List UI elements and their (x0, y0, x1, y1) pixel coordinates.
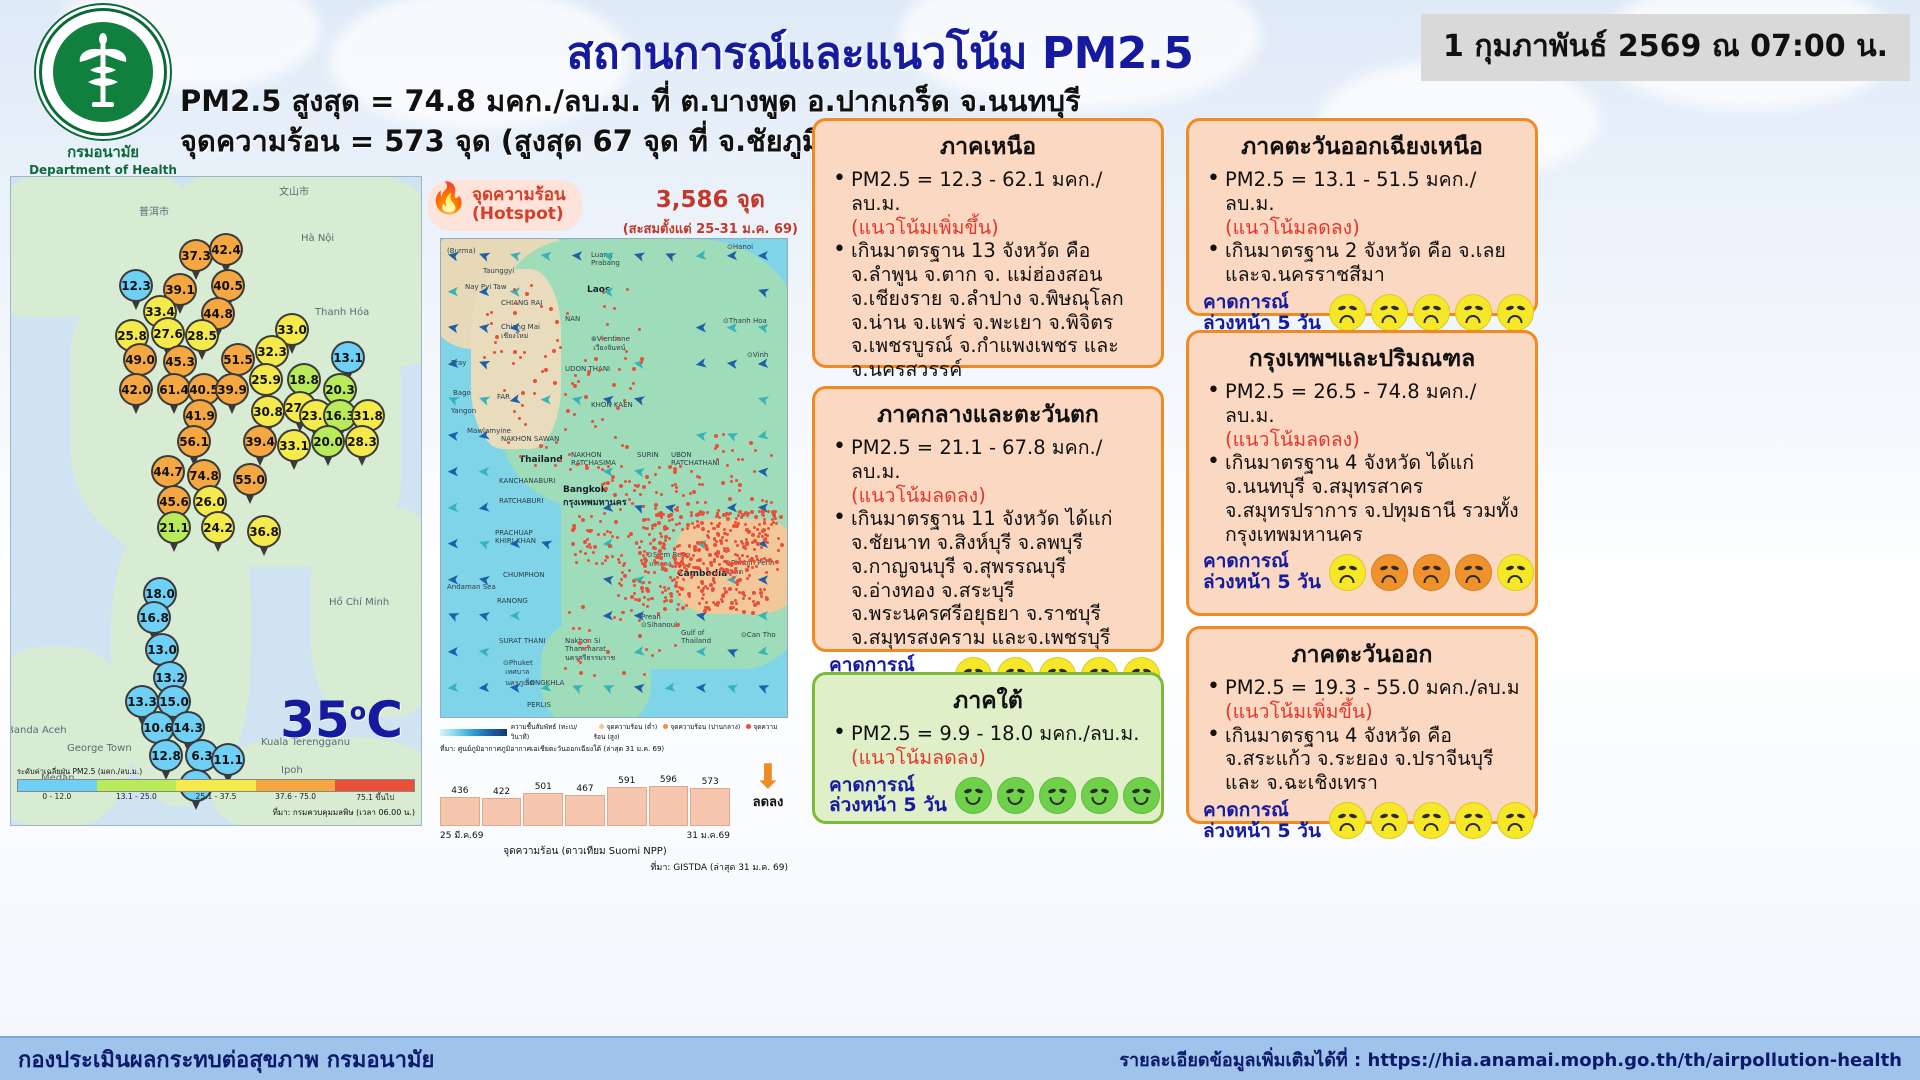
pm25-range-item: PM2.5 = 9.9 - 18.0 มคก./ลบ.ม.(แนวโน้มลดล… (829, 722, 1147, 770)
mouth (1340, 823, 1355, 831)
hotspot-dot (678, 522, 681, 525)
bar-column: 467 (565, 784, 605, 826)
region-card-northeast[interactable]: ภาคตะวันออกเฉียงเหนือPM2.5 = 13.1 - 51.5… (1186, 118, 1538, 316)
hotspot-dot (662, 513, 665, 516)
hotspot-dot (701, 582, 704, 585)
hotspot-dot (493, 351, 496, 354)
station-value: 37.3 (179, 239, 213, 272)
wind-arrow-icon: ➤ (447, 535, 460, 553)
forecast-face-icon (1455, 802, 1492, 839)
hotspot-dot (707, 536, 710, 539)
footer-link[interactable]: รายละเอียดข้อมูลเพิ่มเติมได้ที่ : https:… (1119, 1045, 1902, 1074)
degree-symbol: o (350, 697, 367, 725)
bar (523, 793, 563, 826)
hotspot-panel: 🔥 จุดความร้อน (Hotspot) 3,586 จุด (สะสมต… (428, 176, 800, 826)
wind-arrow-icon: ➤ (477, 679, 491, 698)
wind-arrow-icon: ➤ (663, 678, 678, 698)
station-reading-pin[interactable]: 36.8 (247, 515, 281, 557)
bar (565, 795, 605, 826)
hotspot-legend-item: จุดความร้อน (ปานกลาง) (663, 723, 740, 731)
hotspot-dot (552, 349, 556, 353)
hotspot-dot (586, 639, 589, 642)
axis-start-label: 25 มี.ค.69 (440, 828, 483, 842)
wind-speed-gradient (440, 729, 507, 736)
hotspot-dot (640, 540, 643, 543)
hotspot-dot (645, 648, 648, 651)
hotspot-dot (602, 291, 605, 294)
pm25-range-item: PM2.5 = 21.1 - 67.8 มคก./ลบ.ม.(แนวโน้มลด… (829, 436, 1147, 507)
station-reading-pin[interactable]: 39.4 (243, 425, 277, 467)
hotspot-dot (702, 593, 705, 596)
hotspot-legend-items: จุดความร้อน (ต่ำ) จุดความร้อน (ปานกลาง) … (593, 722, 788, 742)
map-label: RATCHABURI (499, 497, 544, 505)
hotspot-dot (766, 534, 769, 537)
legend-bin-labels: 0 - 12.013.1 - 25.025.1 - 37.537.6 - 75.… (17, 792, 415, 804)
region-title: กรุงเทพฯและปริมณฑล (1203, 341, 1521, 377)
wind-arrow-icon: ➤ (478, 463, 491, 481)
hotspot-dot (730, 564, 733, 567)
hotspot-dot (633, 489, 636, 492)
map-city-label: Banda Aceh (10, 725, 67, 736)
wind-arrow-icon: ➤ (477, 283, 491, 302)
trend-label: (แนวโน้มลดลง) (1225, 216, 1360, 239)
eye (1474, 565, 1483, 571)
temperature-unit: C (366, 691, 403, 749)
hotspot-dot (607, 465, 610, 468)
legend-title: ระดับค่าเฉลี่ยฝุ่น PM2.5 (มคก./ลบ.ม.) (17, 766, 415, 778)
station-reading-pin[interactable]: 20.0 (311, 425, 345, 467)
hotspot-satellite-map[interactable]: (Burma) Taunggyi Nay Pyi Taw LuangPraban… (440, 238, 788, 718)
station-value: 39.9 (215, 373, 249, 406)
hotspot-dot (674, 584, 678, 588)
hotspot-dot (611, 535, 614, 538)
hotspot-dot (736, 579, 740, 583)
hotspot-dot (703, 609, 707, 613)
forecast-label: คาดการณ์ล่วงหน้า 5 วัน (829, 775, 947, 817)
hotspot-dot (742, 545, 746, 549)
station-value: 39.4 (243, 425, 277, 458)
region-title: ภาคเหนือ (829, 129, 1147, 165)
forecast-label: คาดการณ์ล่วงหน้า 5 วัน (1203, 800, 1321, 842)
forecast-face-icon (1123, 777, 1160, 814)
wind-arrow-icon: ➤ (726, 247, 739, 265)
region-title: ภาคใต้ (829, 683, 1147, 719)
hotspot-dot (727, 549, 730, 552)
hotspot-dot (553, 381, 557, 385)
station-value: 44.7 (151, 455, 185, 488)
trend-down-label: ลดลง (740, 791, 796, 812)
hotspot-label-line2: (Hotspot) (472, 205, 566, 224)
bar-column: 501 (523, 782, 563, 826)
hotspot-dot (634, 598, 637, 601)
hotspot-summary: จุดความร้อน = 573 จุด (สูงสุด 67 จุด ที่… (180, 118, 834, 164)
station-value: 42.4 (209, 233, 243, 266)
legend-bin-label: 75.1 ขึ้นไป (335, 792, 415, 804)
mouth (1424, 315, 1439, 323)
eye (1421, 305, 1430, 311)
trend-down-indicator: ⬇ ลดลง (740, 764, 796, 812)
mouth (1508, 823, 1523, 831)
hotspot-dot (653, 538, 656, 541)
region-card-north[interactable]: ภาคเหนือPM2.5 = 12.3 - 62.1 มคก./ลบ.ม.(แ… (812, 118, 1164, 368)
map-city-label: George Town (67, 743, 132, 754)
hotspot-dot (515, 302, 518, 305)
station-reading-pin[interactable]: 21.1 (157, 511, 191, 553)
hotspot-dot (656, 555, 660, 559)
hotspot-dot (587, 370, 591, 374)
station-value: 55.0 (233, 463, 267, 496)
forecast-face-icon (1497, 554, 1534, 591)
eye (963, 788, 972, 794)
hotspot-dot (723, 528, 726, 531)
hotspot-dot (603, 512, 606, 515)
hotspot-dot (647, 518, 650, 521)
hotspot-dot (751, 566, 754, 569)
hotspot-dot (676, 590, 679, 593)
wind-arrow-icon: ➤ (757, 607, 770, 625)
wind-arrow-icon: ➤ (633, 607, 646, 625)
hotspot-dot (682, 578, 685, 581)
hotspot-dot (714, 603, 717, 606)
forecast-face-icon (955, 777, 992, 814)
trend-label: (แนวโน้มเพิ่มขึ้น) (851, 216, 999, 239)
hotspot-dot (738, 557, 741, 560)
hotspot-dot (756, 542, 760, 546)
hotspot-dot (575, 561, 578, 564)
map-label: ⊛Vientiane เวียงจันทน์ (591, 335, 630, 354)
hotspot-dot (643, 596, 646, 599)
hotspot-dot (601, 468, 604, 471)
pm25-range-item: PM2.5 = 26.5 - 74.8 มคก./ลบ.ม.(แนวโน้มลด… (1203, 380, 1521, 451)
hotspot-dot (674, 561, 678, 565)
legend-swatch (335, 780, 414, 791)
hotspot-dot (629, 532, 633, 536)
hotspot-dot (574, 374, 577, 377)
wind-arrow-icon: ➤ (756, 462, 770, 481)
wind-arrow-icon: ➤ (724, 678, 741, 699)
legend-swatch (256, 780, 335, 791)
legend-color-bar (17, 779, 415, 792)
hotspot-dot (722, 433, 725, 436)
hotspot-dot (722, 450, 725, 453)
map-label: RANONG (497, 597, 528, 605)
hotspot-dot (503, 389, 506, 392)
hotspot-dot (690, 514, 693, 517)
hotspot-dot (483, 356, 486, 359)
hotspot-dot (770, 501, 773, 504)
wind-arrow-icon: ➤ (444, 605, 463, 627)
hotspot-dot (679, 515, 683, 519)
wind-arrow-icon: ➤ (694, 246, 709, 265)
hotspot-dot (730, 569, 733, 572)
eye (1421, 813, 1430, 819)
station-reading-pin[interactable]: 28.3 (345, 425, 379, 467)
station-reading-pin[interactable]: 24.2 (201, 511, 235, 553)
hotspot-dot (654, 473, 657, 476)
wind-arrow-icon: ➤ (757, 571, 771, 590)
station-value: 42.0 (119, 373, 153, 406)
hotspot-dot (638, 619, 641, 622)
region-details-list: PM2.5 = 21.1 - 67.8 มคก./ลบ.ม.(แนวโน้มลด… (829, 436, 1147, 650)
mouth (1382, 575, 1397, 583)
hotspot-legend-item: จุดความร้อน (ต่ำ) (599, 723, 657, 731)
wind-arrow-icon: ➤ (447, 571, 460, 589)
wind-arrow-icon: ➤ (475, 533, 493, 554)
region-card-east[interactable]: ภาคตะวันออกPM2.5 = 19.3 - 55.0 มคก./ลบ.ม… (1186, 626, 1538, 824)
mouth (1050, 797, 1065, 805)
bar-column: 596 (649, 775, 689, 826)
wind-arrow-icon: ➤ (476, 606, 493, 627)
mouth (1134, 797, 1149, 805)
eye (1337, 305, 1346, 311)
hotspot-dot (672, 555, 676, 559)
hotspot-dot (616, 406, 620, 410)
bar-value-label: 422 (493, 787, 510, 797)
hotspot-chart-title: จุดความร้อน (ดาวเทียม Suomi NPP) (440, 844, 730, 859)
eye (1047, 788, 1056, 794)
wind-arrow-icon: ➤ (508, 535, 522, 554)
map-label: ⊙Can Tho (741, 631, 776, 639)
hotspot-count-value: 3,586 จุด (623, 182, 798, 218)
wind-arrow-icon: ➤ (446, 354, 461, 374)
mouth (1382, 823, 1397, 831)
forecast-face-icon (1371, 802, 1408, 839)
eye (1432, 565, 1441, 571)
hotspot-dot (660, 535, 663, 538)
hotspot-dot (696, 501, 699, 504)
region-card-bangkok[interactable]: กรุงเทพฯและปริมณฑลPM2.5 = 26.5 - 74.8 มค… (1186, 330, 1538, 616)
hotspot-dot (601, 418, 604, 421)
hotspot-dot (588, 629, 591, 632)
hotspot-dot (604, 487, 608, 491)
hotspot-dot (664, 589, 667, 592)
hotspot-dot (628, 569, 631, 572)
wind-arrow-icon: ➤ (509, 607, 522, 625)
hotspot-dot (613, 493, 617, 497)
hotspot-dot (594, 357, 598, 361)
exceed-standard-item: เกินมาตรฐาน 4 จังหวัด ได้แก่ จ.นนทบุรี จ… (1203, 451, 1521, 546)
station-value: 49.0 (123, 343, 157, 376)
hotspot-dot (713, 581, 716, 584)
hotspot-dot (725, 512, 728, 515)
station-reading-pin[interactable]: 42.0 (119, 373, 153, 415)
forecast-faces (1329, 294, 1534, 331)
hotspot-dot (524, 423, 527, 426)
forecast-faces (955, 777, 1160, 814)
hotspot-dot (584, 552, 587, 555)
legend-bin-label: 25.1 - 37.5 (176, 792, 256, 804)
hotspot-dot (721, 481, 725, 485)
exceed-standard-item: เกินมาตรฐาน 11 จังหวัด ได้แก่ จ.ชัยนาท จ… (829, 507, 1147, 650)
hotspot-dot (750, 497, 754, 501)
temperature-value: 35 (280, 691, 350, 749)
hotspot-dot (640, 361, 643, 364)
hotspot-dot (642, 485, 646, 489)
logo-thai-label: กรมอนามัย (28, 140, 178, 164)
hotspot-dot (654, 547, 657, 550)
satellite-map-legend: ความชื้นสัมพัทธ์ (ทะเบ/วินาที) จุดความร้… (440, 722, 788, 755)
hotspot-dot (770, 523, 773, 526)
hotspot-dot (692, 554, 695, 557)
hotspot-dot (625, 445, 629, 449)
map-landmass (541, 619, 651, 718)
hotspot-dot (574, 553, 577, 556)
legend-bin-label: 37.6 - 75.0 (256, 792, 336, 804)
hotspot-dot (513, 311, 517, 315)
hotspot-dot (673, 548, 676, 551)
forecast-row: คาดการณ์ล่วงหน้า 5 วัน (1203, 800, 1521, 842)
eye (1016, 788, 1025, 794)
hotspot-dot (581, 605, 585, 609)
station-value: 56.1 (177, 425, 211, 458)
hotspot-dot (753, 539, 757, 543)
forecast-face-icon (1497, 802, 1534, 839)
region-details-list: PM2.5 = 26.5 - 74.8 มคก./ลบ.ม.(แนวโน้มลด… (1203, 380, 1521, 546)
eye (1379, 305, 1388, 311)
hotspot-dot (750, 557, 754, 561)
hotspot-dot (733, 570, 737, 574)
forecast-face-icon (1329, 802, 1366, 839)
hotspot-dot (625, 493, 628, 496)
map-label: PERLIS (527, 701, 551, 709)
forecast-faces (1329, 554, 1534, 591)
eye (1390, 813, 1399, 819)
map-label: SURAT THANI (499, 637, 546, 645)
hotspot-dot (626, 288, 629, 291)
hotspot-dot (676, 608, 679, 611)
forecast-face-icon (1413, 294, 1450, 331)
hotspot-dot (669, 564, 672, 567)
hotspot-dot (749, 441, 753, 445)
hotspot-dot (678, 586, 681, 589)
footer-organization: กองประเมินผลกระทบต่อสุขภาพ กรมอนามัย (18, 1042, 434, 1077)
forecast-row: คาดการณ์ล่วงหน้า 5 วัน (1203, 551, 1521, 593)
hotspot-dot (678, 570, 682, 574)
wind-arrow-icon: ➤ (508, 283, 522, 302)
hotspot-dot (673, 470, 677, 474)
hotspot-dot (672, 529, 675, 532)
hotspot-dot (679, 465, 682, 468)
mouth (1340, 315, 1355, 323)
hotspot-dot (593, 674, 596, 677)
ministry-seal-icon (39, 8, 167, 136)
forecast-face-icon (1413, 554, 1450, 591)
hotspot-dot (507, 441, 510, 444)
forecast-label: คาดการณ์ล่วงหน้า 5 วัน (1203, 551, 1321, 593)
map-label: NAN (565, 315, 580, 323)
eye (1474, 305, 1483, 311)
station-reading-pin[interactable]: 55.0 (233, 463, 267, 505)
bar-column: 591 (607, 776, 647, 826)
hotspot-dot (737, 522, 740, 525)
eye (1100, 788, 1109, 794)
wind-arrow-icon: ➤ (477, 642, 492, 662)
eye (1337, 813, 1346, 819)
eye (1463, 565, 1472, 571)
pm25-station-map[interactable]: 文山市 普洱市 Hà Nội Thanh Hóa Hồ Chí Minh Ipo… (10, 176, 422, 826)
map-label: Preah⊙Sihanouk (641, 613, 679, 629)
hotspot-dot (698, 476, 701, 479)
station-value: 30.8 (251, 395, 285, 428)
pm25-legend: ระดับค่าเฉลี่ยฝุ่น PM2.5 (มคก./ลบ.ม.) 0 … (17, 766, 415, 819)
forecast-face-icon (1039, 777, 1076, 814)
station-value: 33.1 (277, 429, 311, 462)
hotspot-dot (620, 578, 623, 581)
station-reading-pin[interactable]: 39.9 (215, 373, 249, 415)
bar-value-label: 436 (451, 786, 468, 796)
wind-arrow-icon: ➤ (447, 643, 460, 661)
mouth (1424, 575, 1439, 583)
hotspot-dot (689, 557, 693, 561)
hotspot-dot (613, 616, 616, 619)
pm25-range-item: PM2.5 = 12.3 - 62.1 มคก./ลบ.ม.(แนวโน้มเพ… (829, 168, 1147, 239)
hotspot-dot (742, 562, 745, 565)
forecast-face-icon (1455, 554, 1492, 591)
satellite-map-source: ที่มา: ศูนย์ภูมิอากาศภูมิอากาศเอเชียตะวั… (440, 744, 788, 755)
hotspot-dot (730, 475, 733, 478)
hotspot-dot (763, 538, 767, 542)
hotspot-count-block: 3,586 จุด (สะสมตั้งแต่ 25-31 ม.ค. 69) (623, 182, 798, 239)
hotspot-dot (641, 590, 644, 593)
eye (1516, 305, 1525, 311)
hotspot-dot (645, 475, 649, 479)
wind-arrow-icon: ➤ (508, 678, 522, 697)
wind-arrow-icon: ➤ (757, 247, 770, 265)
hotspot-dot (519, 356, 522, 359)
map-label: CHIANG RAI (501, 299, 542, 307)
hotspot-dot (577, 659, 580, 662)
region-card-south[interactable]: ภาคใต้PM2.5 = 9.9 - 18.0 มคก./ลบ.ม.(แนวโ… (812, 672, 1164, 824)
hotspot-dot (606, 481, 610, 485)
hotspot-dot (638, 580, 641, 583)
mouth (1466, 575, 1481, 583)
mouth (1382, 315, 1397, 323)
hotspot-dot (697, 548, 701, 552)
forecast-label: คาดการณ์ล่วงหน้า 5 วัน (1203, 292, 1321, 334)
region-title: ภาคตะวันออก (1203, 637, 1521, 673)
fire-icon: 🔥 (430, 182, 467, 215)
exceed-standard-item: เกินมาตรฐาน 13 จังหวัด คือ จ.ลำพูน จ.ตาก… (829, 239, 1147, 382)
mouth (1508, 575, 1523, 583)
hotspot-dot (750, 510, 754, 514)
hotspot-dot (706, 606, 710, 610)
hotspot-dot (767, 510, 770, 513)
pm25-range-item: PM2.5 = 19.3 - 55.0 มคก./ลบ.ม(แนวโน้มเพิ… (1203, 676, 1521, 724)
map-label: UBONRATCHATHANI (671, 451, 720, 467)
legend-swatch (97, 780, 176, 791)
wind-arrow-icon: ➤ (446, 498, 460, 517)
region-card-central-west[interactable]: ภาคกลางและตะวันตกPM2.5 = 21.1 - 67.8 มคก… (812, 386, 1164, 652)
wind-arrow-icon: ➤ (446, 426, 461, 446)
hotspot-bar-chart: 436422501467591596573 (440, 764, 730, 826)
bar-value-label: 573 (702, 777, 719, 787)
map-label: NAKHON SAWAN (501, 435, 559, 443)
hotspot-dot (678, 565, 681, 568)
station-reading-pin[interactable]: 33.1 (277, 429, 311, 471)
wind-arrow-icon: ➤ (570, 247, 584, 266)
wind-arrow-icon: ➤ (540, 391, 553, 409)
wind-arrow-icon: ➤ (726, 319, 739, 337)
hotspot-dot (604, 559, 607, 562)
eye (1089, 788, 1098, 794)
forecast-face-icon (1329, 554, 1366, 591)
mouth (1008, 797, 1023, 805)
bar-value-label: 467 (576, 784, 593, 794)
hotspot-dot (645, 587, 649, 591)
wind-arrow-icon: ➤ (539, 678, 554, 698)
hotspot-dot (719, 568, 722, 571)
hotspot-dot (642, 554, 645, 557)
